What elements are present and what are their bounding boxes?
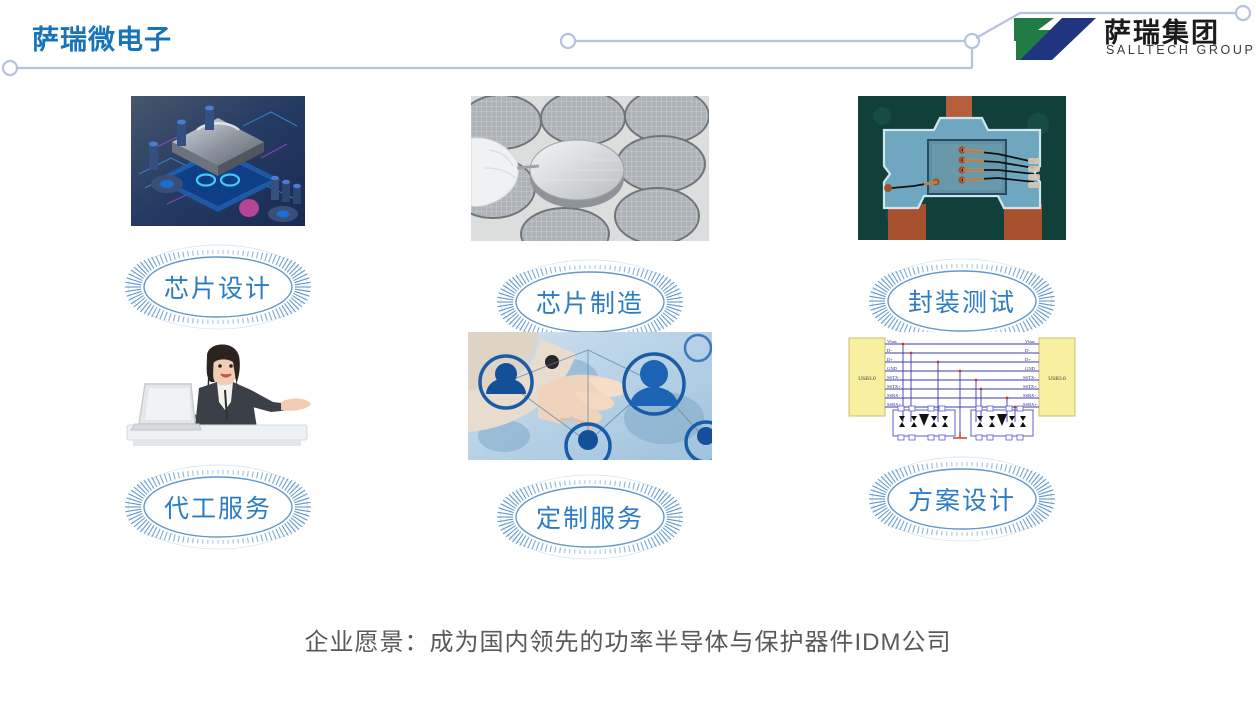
service-badge-label: 方案设计: [847, 456, 1077, 542]
svg-text:SSRX-: SSRX-: [887, 393, 900, 398]
slide-header: 萨瑞微电子 萨瑞集团 SALLTECH GROUP: [0, 0, 1256, 90]
page-title: 萨瑞微电子: [32, 18, 172, 57]
svg-text:D+: D+: [1025, 357, 1031, 362]
svg-text:D-: D-: [887, 348, 892, 353]
slide-root: 萨瑞微电子 萨瑞集团 SALLTECH GROUP: [0, 0, 1256, 704]
chip-design-isometric-illustration: [131, 96, 305, 226]
svg-text:SSTX-: SSTX-: [1023, 375, 1036, 380]
businesswoman-with-laptop-illustration: [121, 332, 316, 450]
service-card-custom-service[interactable]: 定制服务: [400, 332, 780, 560]
svg-text:GND: GND: [1025, 366, 1036, 371]
usb3-schematic-diagram: USB3.0 USB3.0 VbusVbus: [843, 332, 1081, 442]
service-card-chip-manufacturing[interactable]: 芯片制造: [400, 96, 780, 345]
vision-statement: 企业愿景：成为国内领先的功率半导体与保护器件IDM公司: [0, 622, 1256, 657]
service-badge-label: 定制服务: [475, 474, 705, 560]
service-card-packaging-test[interactable]: 封装测试: [772, 96, 1152, 344]
logo-english-name: SALLTECH GROUP: [1106, 43, 1255, 57]
service-card-foundry-service[interactable]: 代工服务: [28, 332, 408, 550]
svg-text:SSTX+: SSTX+: [887, 384, 901, 389]
svg-text:SSRX+: SSRX+: [1023, 402, 1037, 407]
network-touch-photo: [468, 332, 712, 460]
services-grid: 芯片设计: [0, 96, 1256, 576]
svg-text:D-: D-: [1025, 348, 1030, 353]
svg-text:GND: GND: [887, 366, 898, 371]
service-badge: 方案设计: [847, 456, 1077, 542]
schematic-connector-right-label: USB3.0: [1048, 376, 1066, 382]
service-card-chip-design[interactable]: 芯片设计: [28, 96, 408, 330]
service-card-solution-design[interactable]: USB3.0 USB3.0 VbusVbus: [772, 332, 1152, 542]
svg-text:SSTX-: SSTX-: [887, 375, 900, 380]
service-badge-label: 芯片设计: [103, 244, 333, 330]
service-badge: 代工服务: [103, 464, 333, 550]
silicon-wafer-photo: [471, 96, 709, 241]
schematic-connector-left-label: USB3.0: [858, 376, 876, 382]
svg-text:D+: D+: [887, 357, 893, 362]
svg-text:Vbus: Vbus: [887, 339, 897, 344]
brand-logo: 萨瑞集团 SALLTECH GROUP: [1012, 12, 1250, 68]
service-badge: 芯片设计: [103, 244, 333, 330]
salltech-arrow-logo-icon: [1012, 16, 1098, 62]
service-badge-label: 代工服务: [103, 464, 333, 550]
svg-text:SSTX+: SSTX+: [1023, 384, 1037, 389]
wire-bond-die-microscope-photo: [858, 96, 1066, 240]
service-badge: 定制服务: [475, 474, 705, 560]
svg-text:Vbus: Vbus: [1025, 339, 1035, 344]
svg-text:SSRX-: SSRX-: [1023, 393, 1036, 398]
